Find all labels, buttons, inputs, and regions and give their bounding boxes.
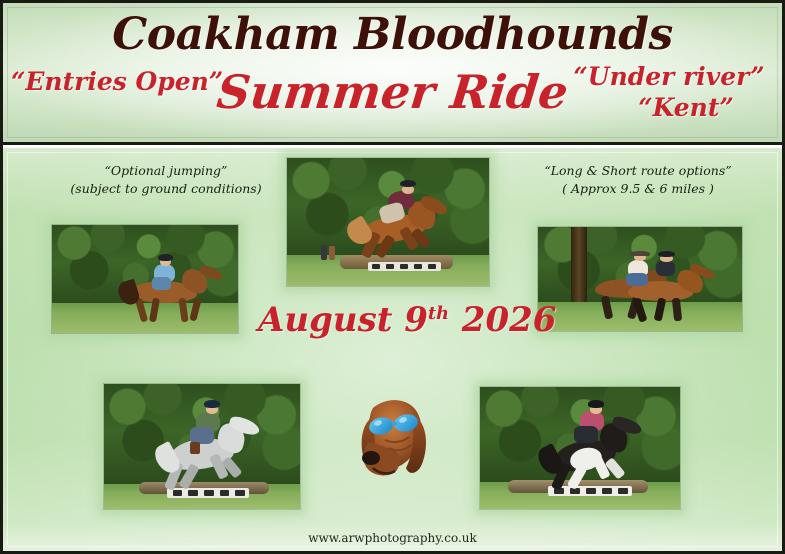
badge-location-line1: “Under river”: [573, 62, 764, 91]
caption-route-options-line2: ( Approx 9.5 & 6 miles ): [503, 180, 773, 198]
caption-optional-jumping-line1: “Optional jumping”: [41, 162, 291, 180]
hound-nose: [362, 451, 380, 465]
poster-root: Coakham Bloodhounds Summer Ride “Entries…: [0, 0, 785, 554]
caption-optional-jumping-line2: (subject to ground conditions): [41, 180, 291, 198]
caption-route-options: “Long & Short route options” ( Approx 9.…: [503, 162, 773, 198]
photo-jump-chestnut-horse: [286, 157, 490, 287]
event-date-year: 2026: [462, 300, 557, 340]
caption-optional-jumping: “Optional jumping” (subject to ground co…: [41, 162, 291, 198]
event-date-prefix: August 9: [258, 300, 428, 340]
body-panel: “Optional jumping” (subject to ground co…: [3, 148, 782, 551]
bloodhound-mascot: [351, 392, 435, 484]
badge-location-line2: “Kent”: [564, 92, 774, 123]
footer-website: www.arwphotography.co.uk: [3, 531, 782, 545]
photo-jump-piebald-horse: [479, 386, 681, 510]
caption-route-options-line1: “Long & Short route options”: [503, 162, 773, 180]
photo-canter-bay-horse: [51, 224, 239, 334]
event-date-ordinal: th: [428, 303, 449, 324]
badge-entries-open: “Entries Open”: [11, 67, 221, 96]
photo-jump-grey-horse: [103, 383, 301, 510]
header-band: Coakham Bloodhounds Summer Ride “Entries…: [3, 3, 782, 145]
photo-two-riders: [537, 226, 743, 332]
page-title: Coakham Bloodhounds: [3, 9, 782, 60]
event-date: August 9th 2026: [258, 300, 538, 340]
badge-location: “Under river” “Kent”: [564, 61, 774, 124]
